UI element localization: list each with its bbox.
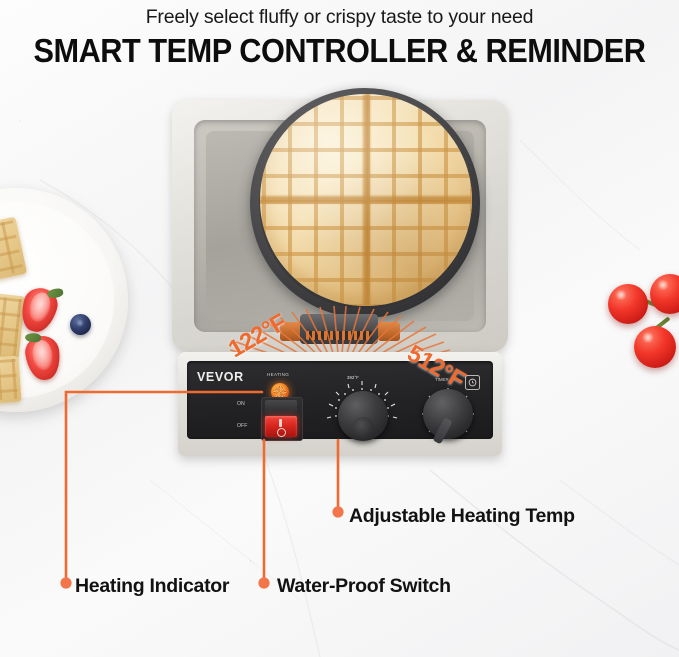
callout-label-heating-indicator: Heating Indicator	[75, 575, 229, 598]
product-marketing-image: Freely select fluffy or crispy taste to …	[0, 0, 679, 657]
food-plate	[0, 188, 128, 412]
callout-label-water-proof-switch: Water-Proof Switch	[277, 575, 451, 598]
power-rocker-switch[interactable]	[261, 397, 303, 441]
callout-label-adjustable-heating-temp: Adjustable Heating Temp	[349, 505, 575, 528]
temperature-knob[interactable]	[338, 391, 388, 441]
headline-subtitle: Freely select fluffy or crispy taste to …	[0, 6, 679, 29]
headline-block: Freely select fluffy or crispy taste to …	[0, 0, 679, 70]
waffle-piece	[0, 356, 22, 407]
tomato	[634, 326, 676, 368]
temperature-dial-zone[interactable]: 392°F	[315, 373, 409, 447]
tomato	[608, 284, 648, 324]
switch-on-label: ON	[237, 401, 245, 407]
waffle-maker: VEVOR HEATING ON OFF	[172, 100, 508, 458]
blueberry	[70, 314, 91, 335]
headline-title: SMART TEMP CONTROLLER & REMINDER	[24, 32, 655, 70]
strawberry	[23, 334, 63, 382]
timer-knob[interactable]	[423, 389, 473, 439]
waffle	[260, 94, 472, 306]
tomato	[650, 274, 679, 314]
heating-label: HEATING	[267, 372, 289, 377]
brand-logo: VEVOR	[197, 370, 244, 384]
switch-off-label: OFF	[237, 423, 247, 429]
knob-logo	[359, 424, 368, 433]
vine-tomatoes	[606, 274, 679, 380]
dial-top-temp-label: 392°F	[347, 375, 359, 380]
